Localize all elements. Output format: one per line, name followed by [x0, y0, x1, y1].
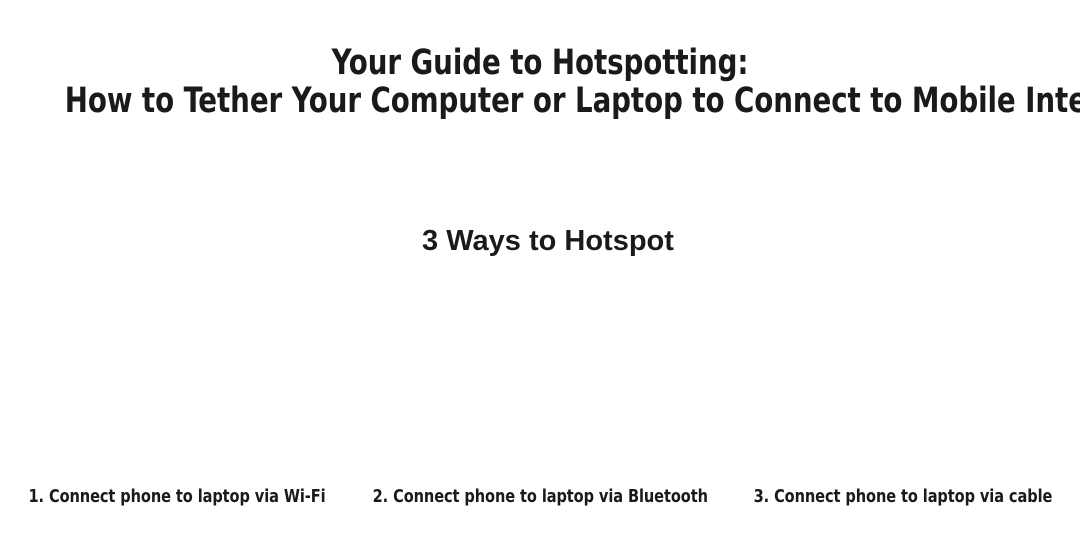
illustration-bluetooth [360, 280, 720, 476]
infographic-page: Your Guide to Hotspotting: How to Tether… [0, 0, 1080, 552]
section-heading-label: 3 Ways to Hotspot [422, 224, 674, 258]
page-title-line-2: How to Tether Your Computer or Laptop to… [65, 82, 1015, 120]
illustration-cable [720, 280, 1080, 476]
page-title: Your Guide to Hotspotting: How to Tether… [0, 44, 1080, 120]
illustration-row [0, 280, 1080, 476]
method-caption-wifi: 1. Connect phone to laptop via Wi-Fi [28, 486, 325, 508]
page-title-line-1: Your Guide to Hotspotting: [65, 44, 1015, 82]
section-heading: 3 Ways to Hotspot [0, 224, 1080, 258]
method-item-1: 1. Connect phone to laptop via Wi-Fi [0, 486, 354, 508]
method-item-2: 2. Connect phone to laptop via Bluetooth [354, 486, 727, 508]
illustration-wifi [0, 280, 360, 476]
method-caption-cable: 3. Connect phone to laptop via cable [754, 486, 1053, 508]
method-item-3: 3. Connect phone to laptop via cable [726, 486, 1080, 508]
caption-row: 1. Connect phone to laptop via Wi-Fi 2. … [0, 486, 1080, 508]
method-caption-bluetooth: 2. Connect phone to laptop via Bluetooth [372, 486, 707, 508]
